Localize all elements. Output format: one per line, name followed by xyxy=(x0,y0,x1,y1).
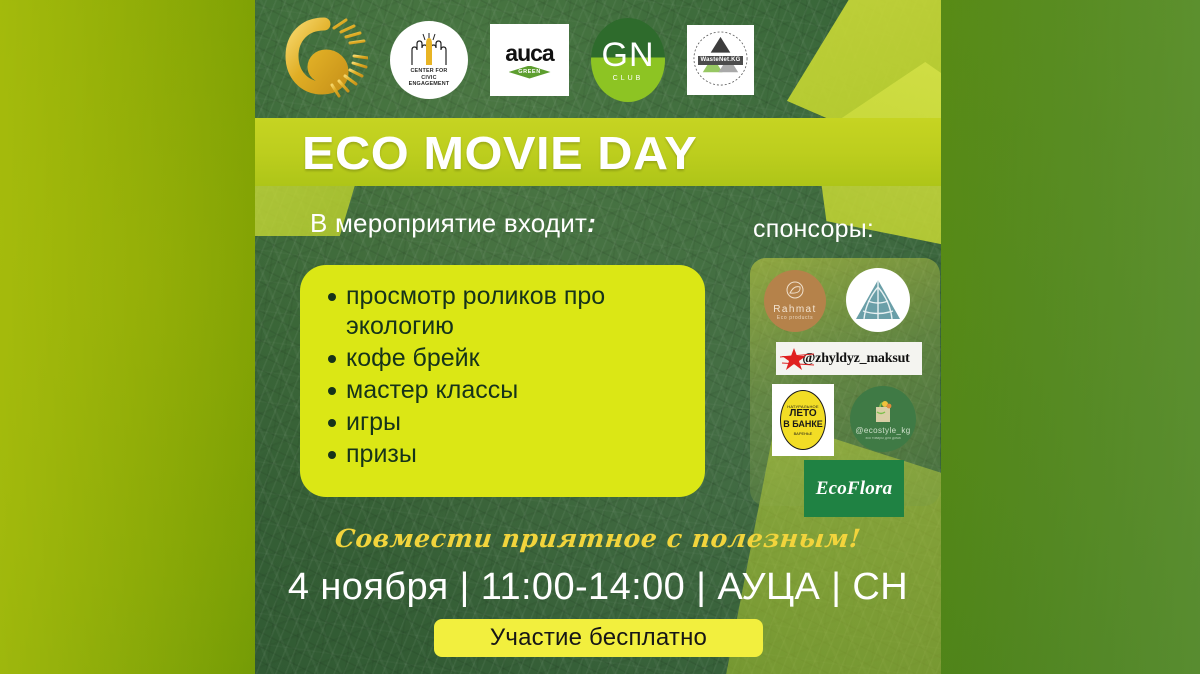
gn-club-logo: GN CLUB xyxy=(591,18,665,102)
eagle-spiral-icon xyxy=(284,16,368,100)
auca-green-badge: GREEN xyxy=(509,66,551,79)
leto-line-1: ЛЕТО xyxy=(789,409,816,419)
auca-green-logo: auca GREEN xyxy=(490,24,569,96)
includes-subtitle-colon: : xyxy=(587,208,596,238)
includes-list: просмотр роликов про экологию кофе брейк… xyxy=(322,281,689,469)
list-item: просмотр роликов про экологию xyxy=(346,281,689,341)
free-participation-button[interactable]: Участие бесплатно xyxy=(434,619,763,657)
center-for-civic-engagement-logo: CENTER FOR CIVIC ENGAGEMENT xyxy=(390,21,468,99)
ecostyle-subtitle: эко товары для дома xyxy=(865,436,900,440)
ecostyle-handle: @ecostyle_kg xyxy=(855,426,910,435)
rahmat-eco-products-logo: Rahmat Eco products xyxy=(764,270,826,332)
organizer-logo-strip: CENTER FOR CIVIC ENGAGEMENT auca GREEN G… xyxy=(255,16,941,104)
cce-line-2: CIVIC xyxy=(409,75,450,82)
leaf-circle-icon xyxy=(784,281,806,301)
zhyldyz-handle: @zhyldyz_maksut xyxy=(802,351,909,367)
leto-bottom-text: ВАРЕНЬЕ xyxy=(794,431,813,436)
auca-wordmark: auca xyxy=(505,42,553,64)
kalpak-hat-logo xyxy=(846,268,910,332)
gn-wordmark: GN xyxy=(602,38,655,72)
eagle-spiral-logo xyxy=(284,16,368,105)
ecoflora-logo: EcoFlora xyxy=(804,460,904,517)
event-datetime-venue: 4 ноября | 11:00-14:00 | АУЦА | CH xyxy=(255,566,941,609)
page-title: ECO MOVIE DAY xyxy=(302,125,697,181)
list-item: призы xyxy=(346,439,689,469)
rahmat-subtitle: Eco products xyxy=(777,315,813,321)
gn-club-sub: CLUB xyxy=(613,75,644,82)
kalpak-hat-icon xyxy=(852,277,904,323)
raised-hands-icon xyxy=(406,32,452,66)
includes-list-card: просмотр роликов про экологию кофе брейк… xyxy=(300,265,705,497)
red-star-icon xyxy=(780,346,816,372)
sponsors-label: спонсоры: xyxy=(753,215,874,244)
grocery-bag-icon xyxy=(871,398,895,424)
leto-line-2: В БАНКЕ xyxy=(783,419,823,429)
ecoflora-wordmark: EcoFlora xyxy=(816,478,893,500)
ecostyle-kg-logo: @ecostyle_kg эко товары для дома xyxy=(850,386,916,452)
list-item: мастер классы xyxy=(346,375,689,405)
list-item: игры xyxy=(346,407,689,437)
wastenet-label: WasteNet.KG xyxy=(698,56,744,65)
eco-movie-day-poster: CENTER FOR CIVIC ENGAGEMENT auca GREEN G… xyxy=(255,0,941,674)
free-participation-label: Участие бесплатно xyxy=(490,624,707,652)
wastenet-kg-logo: WasteNet.KG xyxy=(687,25,754,95)
tagline: Совмести приятное с полезным! xyxy=(255,524,941,553)
rahmat-title: Rahmat xyxy=(773,304,816,315)
poster-stage: CENTER FOR CIVIC ENGAGEMENT auca GREEN G… xyxy=(0,0,1200,674)
zhyldyz-maksut-logo: @zhyldyz_maksut xyxy=(776,342,922,375)
list-item: кофе брейк xyxy=(346,343,689,373)
cce-line-3: ENGAGEMENT xyxy=(409,81,450,88)
includes-subtitle: В мероприятие входит: xyxy=(310,208,596,239)
cce-line-1: CENTER FOR xyxy=(409,68,450,75)
includes-subtitle-text: В мероприятие входит xyxy=(310,208,587,238)
leto-v-banke-logo: НАТУРАЛЬНОЕ ЛЕТО В БАНКЕ ВАРЕНЬЕ xyxy=(772,384,834,456)
